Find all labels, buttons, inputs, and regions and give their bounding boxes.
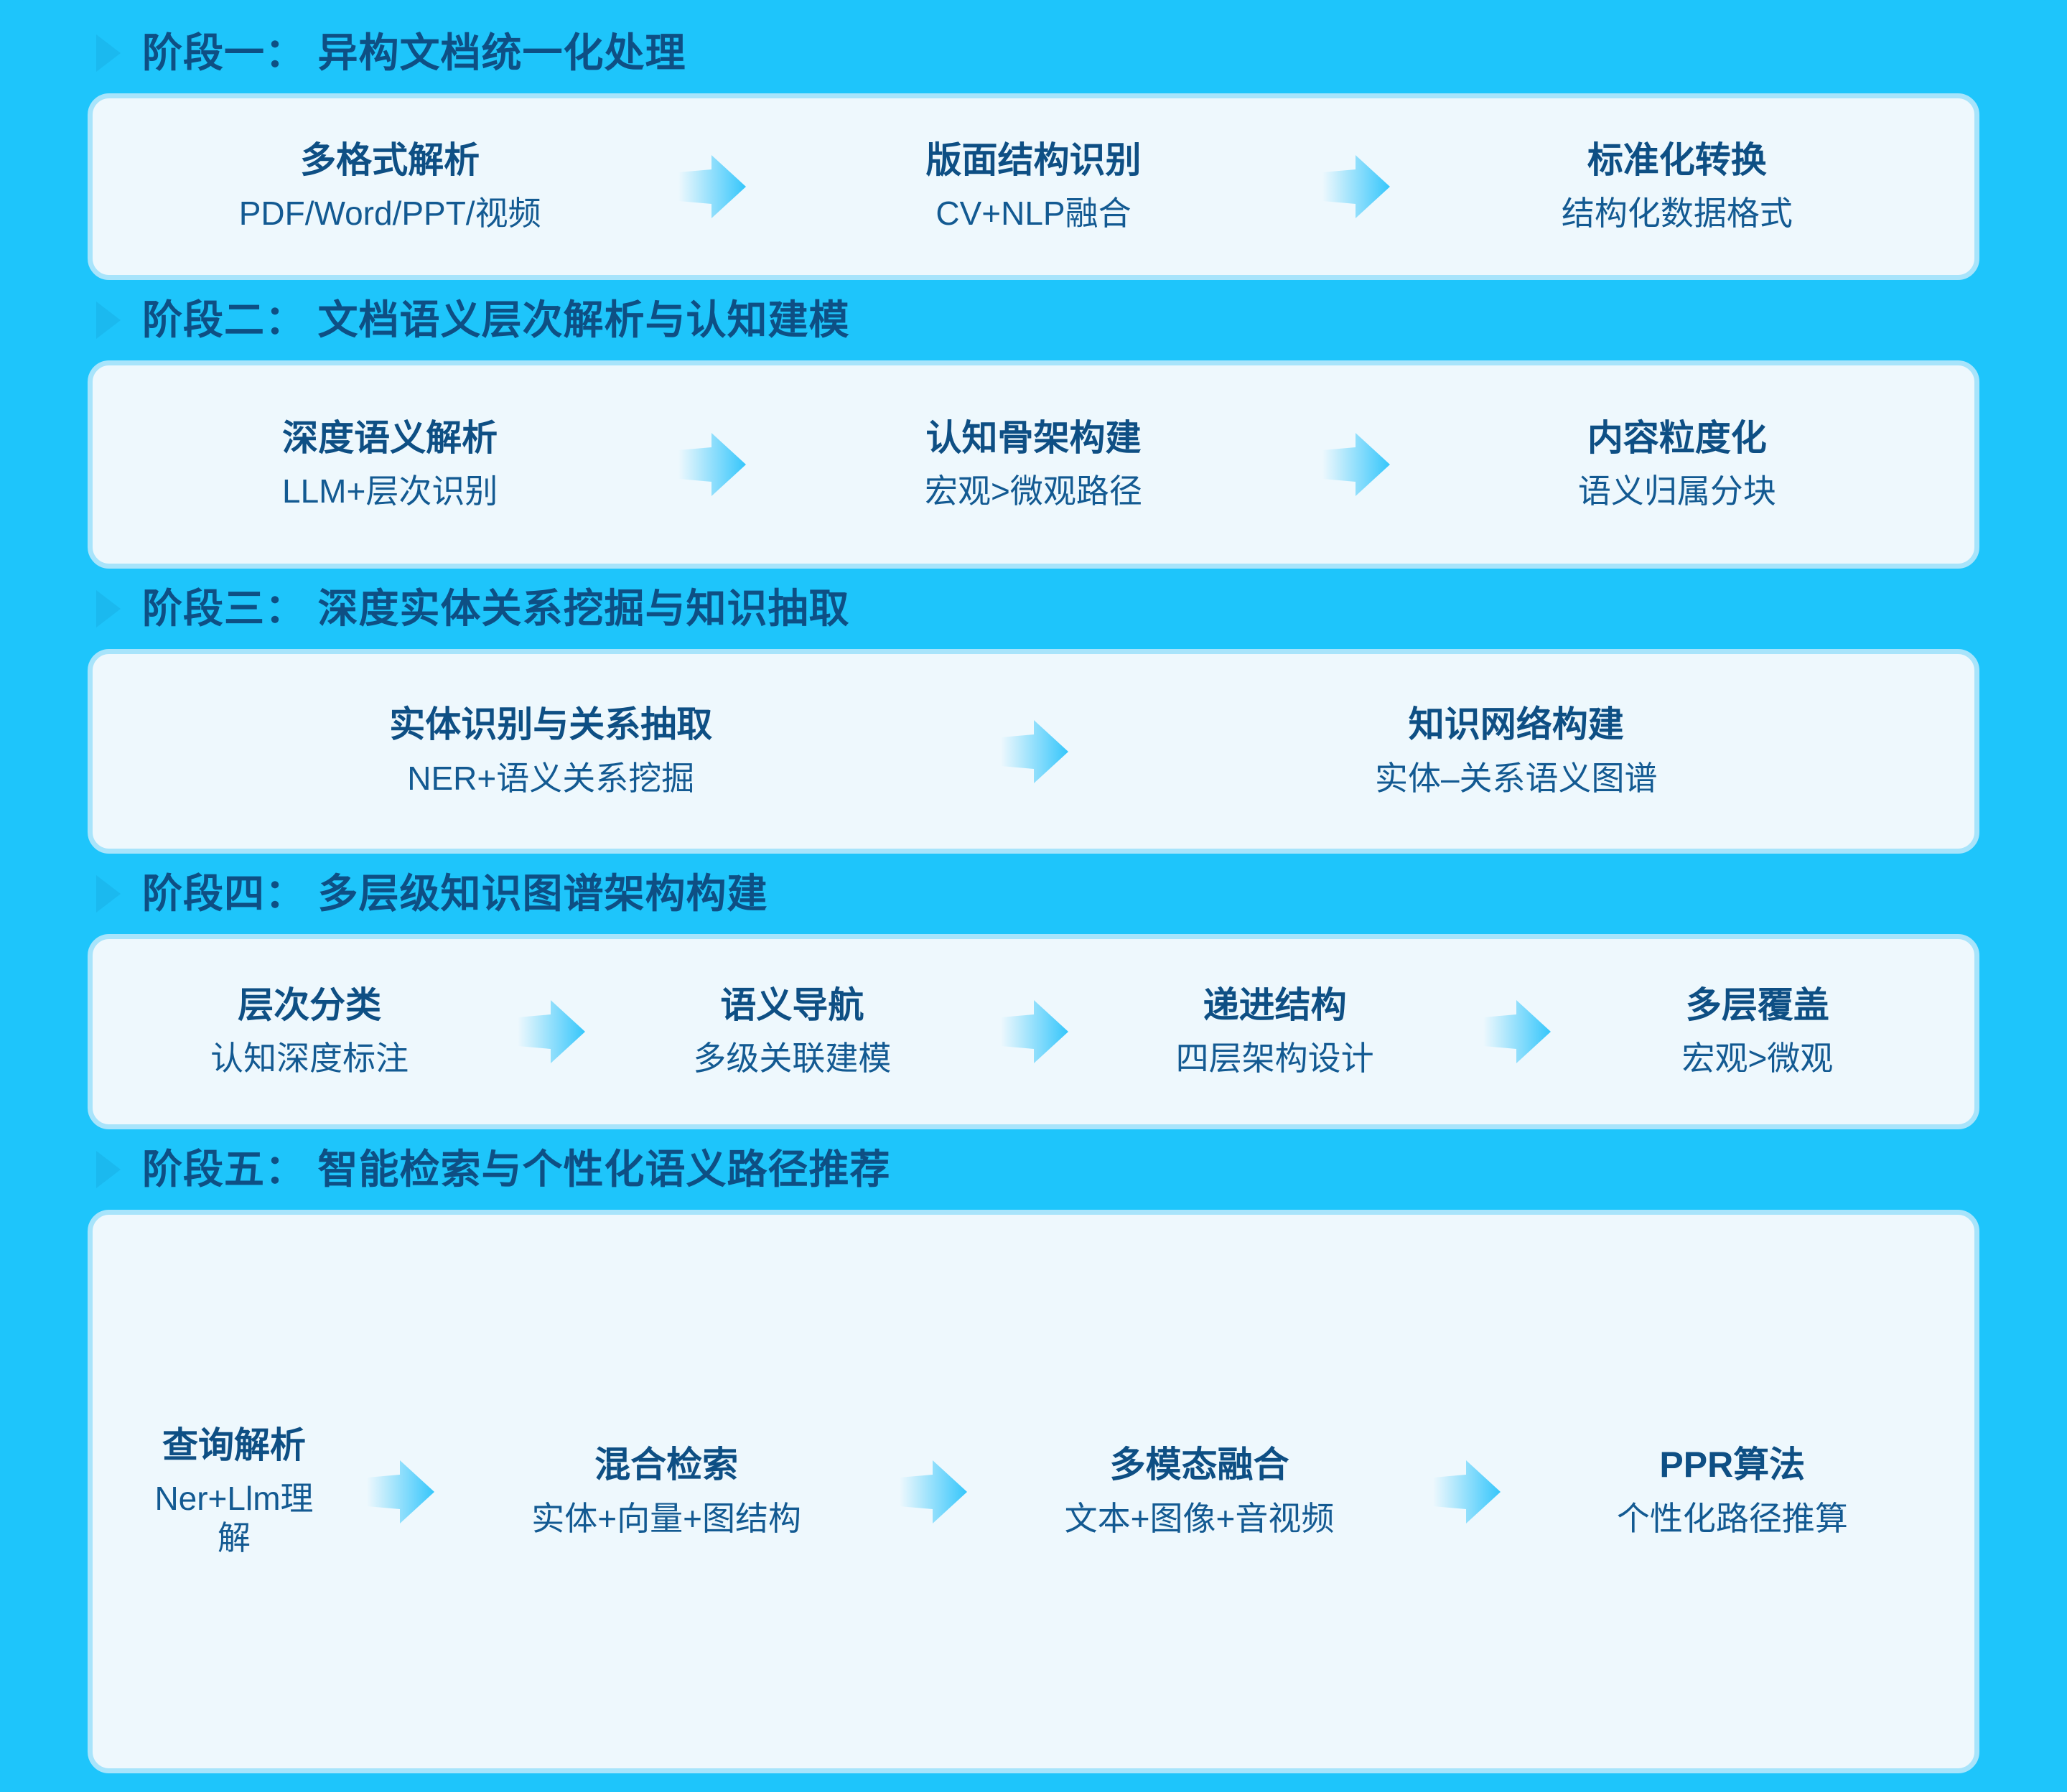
chevron-right-icon	[93, 32, 123, 75]
step-title: 知识网络构建	[1409, 704, 1624, 746]
stage-header-5: 阶段五： 智能检索与个性化语义路径推荐	[88, 1129, 1979, 1210]
arrow-connector	[668, 106, 755, 268]
step-subtitle: 四层架构设计	[1176, 1039, 1374, 1078]
stage-header-4: 阶段四： 多层级知识图谱架构构建	[88, 854, 1979, 934]
stage-header-2: 阶段二： 文档语义层次解析与认知建模	[88, 280, 1979, 360]
step-subtitle: CV+NLP融合	[935, 194, 1131, 233]
arrow-connector	[890, 1222, 976, 1761]
step-subtitle: 实体–关系语义图谱	[1375, 759, 1658, 798]
chevron-right-icon	[93, 299, 123, 342]
stage-card-3: 实体识别与关系抽取 NER+语义关系挖掘 知识网络构建 实体–关系语义图谱	[88, 649, 1979, 854]
chevron-right-icon	[93, 872, 123, 915]
stage-card-1: 多格式解析 PDF/Word/PPT/视频 版面结构识别 CV+NLP融合	[88, 93, 1979, 280]
arrow-right-icon	[363, 1457, 437, 1526]
chevron-right-icon	[93, 1148, 123, 1191]
step-subtitle: 文本+图像+音视频	[1065, 1499, 1335, 1539]
step-card[interactable]: 递进结构 四层架构设计	[1077, 946, 1473, 1117]
step-card[interactable]: 多格式解析 PDF/Word/PPT/视频	[111, 106, 668, 268]
stage-stack: 阶段一： 异构文档统一化处理 多格式解析 PDF/Word/PPT/视频	[0, 0, 2067, 1792]
arrow-connector	[357, 1222, 443, 1761]
arrow-right-icon	[1318, 430, 1393, 499]
arrow-connector	[508, 946, 594, 1117]
step-card[interactable]: 标准化转换 结构化数据格式	[1399, 106, 1956, 268]
step-subtitle: 宏观>微观路径	[925, 472, 1142, 511]
step-title: 实体识别与关系抽取	[389, 704, 712, 746]
arrow-right-icon	[1479, 997, 1554, 1066]
arrow-connector	[991, 661, 1077, 841]
arrow-right-icon	[674, 430, 749, 499]
stage-card-5: 查询解析 Ner+Llm理解 混合检索 实体+向量+图结构 多模态融合 文本+图…	[88, 1210, 1979, 1773]
step-title: 混合检索	[594, 1445, 738, 1486]
step-card[interactable]: 多模态融合 文本+图像+音视频	[976, 1222, 1422, 1761]
step-card[interactable]: 深度语义解析 LLM+层次识别	[111, 373, 668, 556]
arrow-right-icon	[1429, 1457, 1503, 1526]
stage-title-3: 阶段三： 深度实体关系挖掘与知识抽取	[142, 587, 850, 631]
arrow-right-icon	[997, 717, 1071, 786]
step-title: 层次分类	[238, 985, 381, 1027]
step-card[interactable]: 层次分类 认知深度标注	[111, 946, 508, 1117]
arrow-right-icon	[895, 1457, 970, 1526]
arrow-connector	[1312, 373, 1399, 556]
arrow-right-icon	[1318, 152, 1393, 221]
diagram-canvas: 阶段一： 异构文档统一化处理 多格式解析 PDF/Word/PPT/视频	[0, 0, 2067, 1792]
arrow-connector	[991, 946, 1077, 1117]
stage-card-4: 层次分类 认知深度标注 语义导航 多级关联建模 递进结构 四层架构设计	[88, 934, 1979, 1129]
arrow-right-icon	[674, 152, 749, 221]
stage-title-5: 阶段五： 智能检索与个性化语义路径推荐	[142, 1147, 891, 1192]
arrow-right-icon	[513, 997, 588, 1066]
step-subtitle: 个性化路径推算	[1617, 1499, 1848, 1539]
step-title: 版面结构识别	[925, 140, 1141, 182]
step-card[interactable]: 多层覆盖 宏观>微观	[1559, 946, 1956, 1117]
step-subtitle: 认知深度标注	[210, 1039, 409, 1078]
step-title: 递进结构	[1203, 985, 1347, 1027]
step-card[interactable]: 实体识别与关系抽取 NER+语义关系挖掘	[111, 661, 991, 841]
step-subtitle: PDF/Word/PPT/视频	[239, 194, 541, 233]
step-title: 多模态融合	[1109, 1445, 1289, 1486]
step-title: 内容粒度化	[1587, 418, 1767, 459]
stage-title-2: 阶段二： 文档语义层次解析与认知建模	[142, 298, 850, 342]
arrow-connector	[1423, 1222, 1509, 1761]
step-title: 语义导航	[720, 985, 864, 1027]
step-title: 查询解析	[162, 1425, 306, 1467]
step-subtitle: NER+语义关系挖掘	[407, 759, 694, 798]
step-subtitle: LLM+层次识别	[282, 472, 498, 511]
stage-card-2: 深度语义解析 LLM+层次识别 认知骨架构建 宏观>微观路径 内容粒度化 语义归…	[88, 360, 1979, 569]
step-title: 深度语义解析	[282, 418, 498, 459]
arrow-right-icon	[997, 997, 1071, 1066]
step-card[interactable]: 查询解析 Ner+Llm理解	[111, 1222, 357, 1761]
step-subtitle: Ner+Llm理解	[148, 1479, 320, 1558]
stage-header-3: 阶段三： 深度实体关系挖掘与知识抽取	[88, 569, 1979, 649]
step-card[interactable]: 版面结构识别 CV+NLP融合	[755, 106, 1312, 268]
arrow-connector	[1473, 946, 1559, 1117]
step-card[interactable]: 混合检索 实体+向量+图结构	[443, 1222, 890, 1761]
step-title: 多格式解析	[300, 140, 480, 182]
chevron-right-icon	[93, 587, 123, 630]
step-subtitle: 语义归属分块	[1578, 472, 1776, 511]
step-title: 认知骨架构建	[925, 418, 1141, 459]
step-card[interactable]: PPR算法 个性化路径推算	[1509, 1222, 1956, 1761]
stage-title-4: 阶段四： 多层级知识图谱架构构建	[142, 872, 768, 916]
stage-title-1: 阶段一： 异构文档统一化处理	[142, 31, 686, 75]
step-subtitle: 实体+向量+图结构	[531, 1499, 801, 1539]
arrow-connector	[1312, 106, 1399, 268]
step-card[interactable]: 内容粒度化 语义归属分块	[1399, 373, 1956, 556]
step-card[interactable]: 认知骨架构建 宏观>微观路径	[755, 373, 1312, 556]
step-subtitle: 宏观>微观	[1681, 1039, 1833, 1078]
step-card[interactable]: 知识网络构建 实体–关系语义图谱	[1077, 661, 1956, 841]
step-card[interactable]: 语义导航 多级关联建模	[594, 946, 990, 1117]
step-title: 标准化转换	[1587, 140, 1767, 182]
step-subtitle: 多级关联建模	[693, 1039, 891, 1078]
step-subtitle: 结构化数据格式	[1562, 194, 1793, 233]
stage-header-1: 阶段一： 异构文档统一化处理	[88, 13, 1979, 93]
arrow-connector	[668, 373, 755, 556]
step-title: 多层覆盖	[1686, 985, 1829, 1027]
step-title: PPR算法	[1659, 1445, 1805, 1486]
